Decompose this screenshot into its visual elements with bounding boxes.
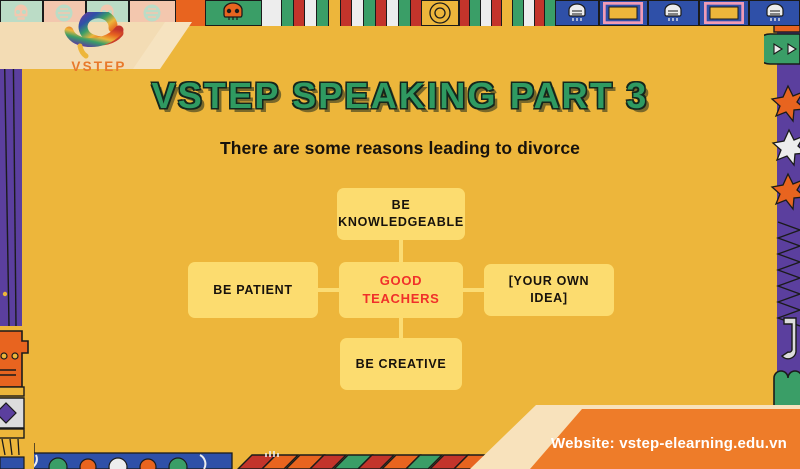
page-subtitle: There are some reasons leading to divorc…: [0, 138, 800, 159]
slide-canvas: VSTEP VSTEP SPEAKING PART 3 There are so…: [0, 0, 800, 469]
mindmap-node-top[interactable]: BE KNOWLEDGEABLE: [337, 188, 465, 240]
mindmap-node-right[interactable]: [YOUR OWN IDEA]: [484, 264, 614, 316]
mindmap-node-label: GOOD TEACHERS: [347, 272, 455, 307]
rainbow-swoosh-e-icon: [56, 12, 142, 60]
mindmap-node-label: BE KNOWLEDGEABLE: [338, 197, 464, 231]
mindmap-node-bottom[interactable]: BE CREATIVE: [340, 338, 462, 390]
mindmap-node-left[interactable]: BE PATIENT: [188, 262, 318, 318]
footer-website-label: Website: vstep-elearning.edu.vn: [551, 435, 787, 452]
connector-right: [460, 288, 486, 292]
vstep-logo[interactable]: VSTEP: [56, 12, 142, 74]
page-title: VSTEP SPEAKING PART 3: [0, 75, 800, 117]
mindmap-node-label: [YOUR OWN IDEA]: [492, 273, 606, 307]
logo-label: VSTEP: [56, 59, 142, 74]
mindmap-node-center[interactable]: GOOD TEACHERS: [339, 262, 463, 318]
mindmap-node-label: BE CREATIVE: [356, 356, 447, 373]
mindmap-node-label: BE PATIENT: [213, 282, 292, 299]
